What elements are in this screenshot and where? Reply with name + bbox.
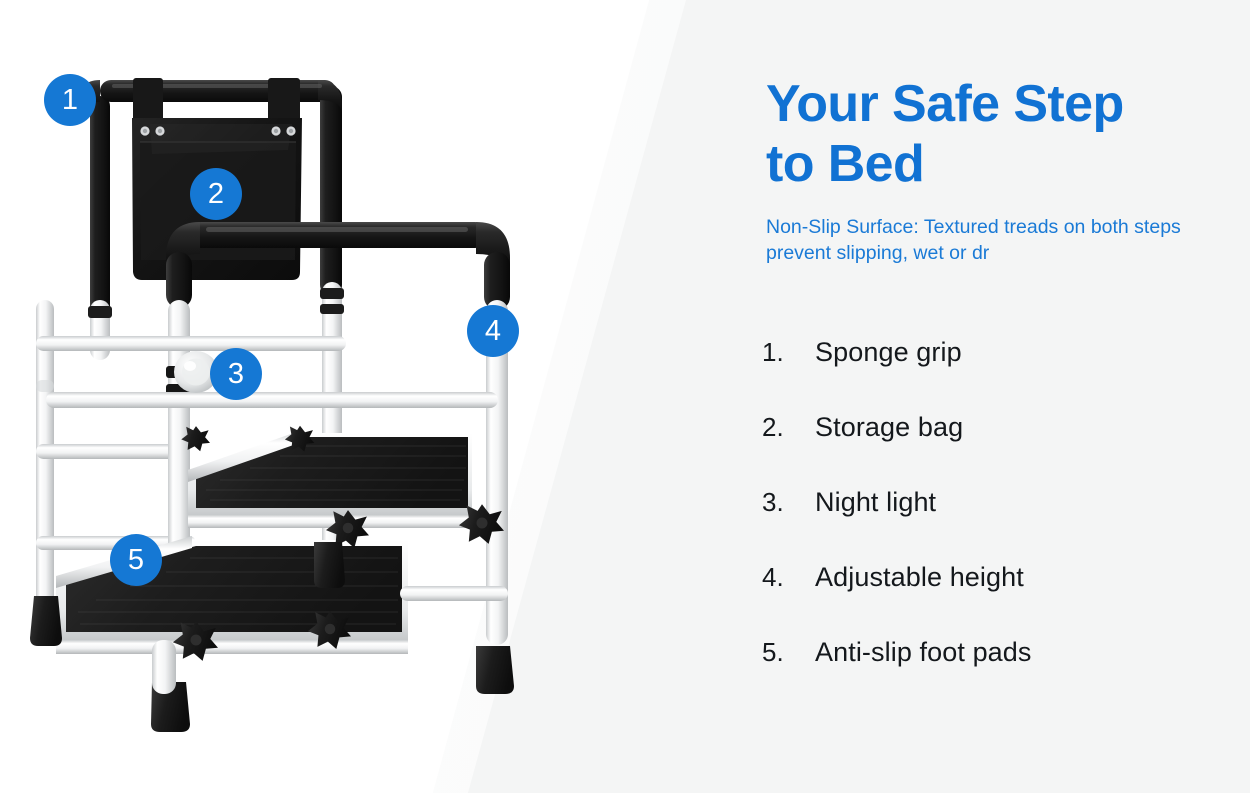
list-item: 2. Storage bag [762,412,1222,487]
lower-step-platform [56,536,408,654]
feature-list: 1. Sponge grip 2. Storage bag 3. Night l… [762,337,1222,712]
list-item-number: 2. [762,412,815,443]
upper-step-platform [188,430,472,528]
frame-cross-rails [46,336,498,408]
list-item-label: Storage bag [815,412,963,443]
product-image: 1 2 3 4 5 [0,0,700,793]
frame-side-rail [400,586,508,601]
non-slip-tread [196,437,468,508]
rubber-foot-cap [476,646,514,694]
bed-step-stool-illustration [0,0,700,793]
list-item: 4. Adjustable height [762,562,1222,637]
rubber-foot-cap [30,596,62,646]
callout-badge-4[interactable]: 4 [467,305,519,357]
list-item-number: 5. [762,637,815,668]
list-item-number: 4. [762,562,815,593]
headline-line-2: to Bed [766,135,924,193]
headline-line-1: Your Safe Step [766,75,1124,133]
list-item-number: 1. [762,337,815,368]
callout-badge-1[interactable]: 1 [44,74,96,126]
callout-badge-3[interactable]: 3 [210,348,262,400]
copy-block: Your Safe Step to Bed Non-Slip Surface: … [766,74,1206,266]
page-title: Your Safe Step to Bed [766,74,1206,195]
callout-badge-5[interactable]: 5 [110,534,162,586]
front-left-leg [152,640,176,694]
list-item: 5. Anti-slip foot pads [762,637,1222,712]
rubber-foot-cap [314,542,345,588]
list-item-label: Night light [815,487,936,518]
subtitle-text: Non-Slip Surface: Textured treads on bot… [766,215,1196,267]
list-item-label: Adjustable height [815,562,1024,593]
list-item-label: Sponge grip [815,337,962,368]
callout-badge-2[interactable]: 2 [190,168,242,220]
list-item: 1. Sponge grip [762,337,1222,412]
list-item-number: 3. [762,487,815,518]
list-item: 3. Night light [762,487,1222,562]
infographic-page: 1 2 3 4 5 Your Safe Step to Bed Non-Slip… [0,0,1250,793]
list-item-label: Anti-slip foot pads [815,637,1032,668]
